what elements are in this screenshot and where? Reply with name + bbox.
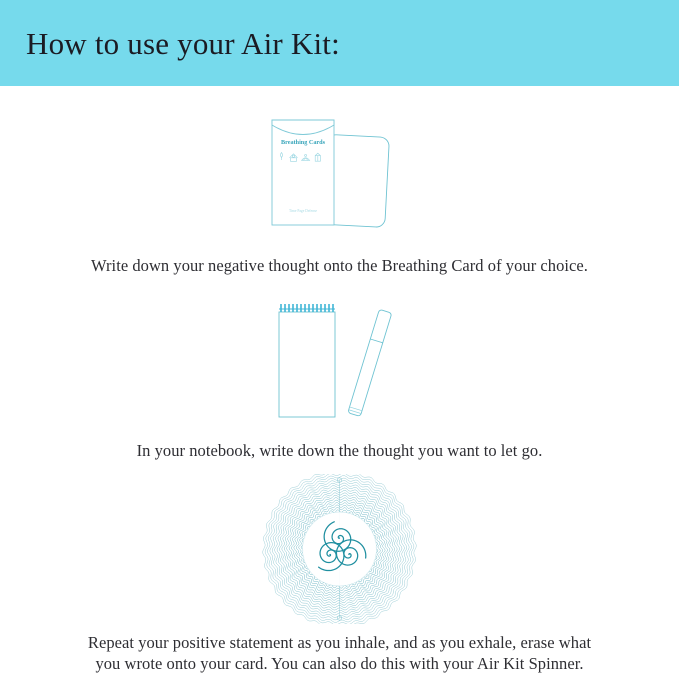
envelope-footer-text: Time Page Defense xyxy=(288,209,316,213)
breathing-cards-envelope-illustration: Breathing Cards xyxy=(260,108,420,238)
spiral-notebook xyxy=(279,304,335,417)
step-1: Breathing Cards xyxy=(0,86,679,277)
pen xyxy=(347,309,391,416)
header-banner: How to use your Air Kit: xyxy=(0,0,679,86)
spinner-inner-disc xyxy=(303,512,377,586)
page-title: How to use your Air Kit: xyxy=(26,28,340,59)
step-2-figure xyxy=(265,299,415,424)
step-2-caption: In your notebook, write down the thought… xyxy=(137,440,543,462)
steps-list: Breathing Cards xyxy=(0,86,679,675)
step-3-caption: Repeat your positive statement as you in… xyxy=(75,632,605,675)
step-3-figure xyxy=(252,474,427,624)
air-kit-spinner-illustration xyxy=(252,474,427,624)
step-2: In your notebook, write down the thought… xyxy=(0,277,679,462)
breathing-cards-envelope: Breathing Cards xyxy=(272,120,334,225)
envelope-title: Breathing Cards xyxy=(280,139,325,146)
step-3: Repeat your positive statement as you in… xyxy=(0,462,679,675)
notebook-and-pen-illustration xyxy=(265,299,415,424)
spiral-binding xyxy=(281,304,333,312)
step-1-caption: Write down your negative thought onto th… xyxy=(91,255,588,277)
step-1-figure: Breathing Cards xyxy=(260,108,420,238)
